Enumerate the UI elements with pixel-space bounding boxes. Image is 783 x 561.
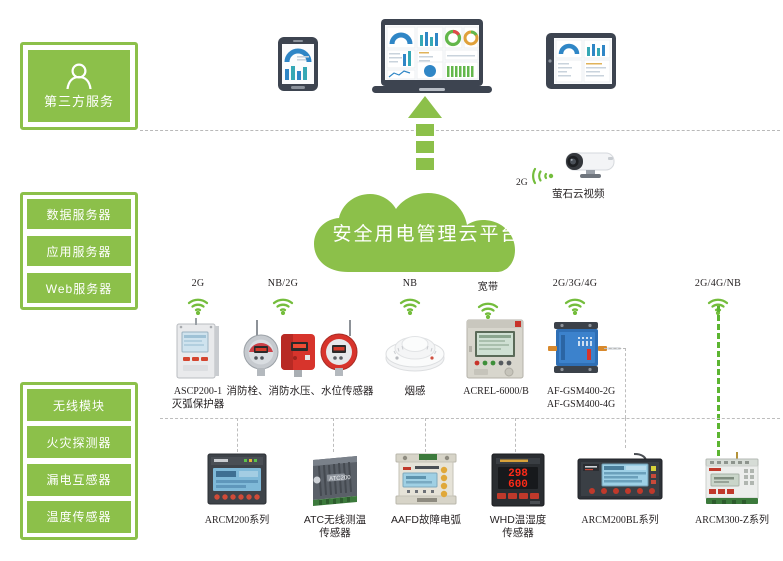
server-group-box: 数据服务器 应用服务器 Web服务器 [20, 192, 138, 310]
top-separator [140, 130, 780, 131]
smoke-detector-icon [384, 318, 446, 380]
wifi-icon [271, 293, 295, 315]
camera-wifi-icon [531, 165, 555, 187]
signal-label: 宽带 [453, 278, 523, 293]
device-caption: ARCM200系列 [197, 514, 277, 527]
bus-drop-line [333, 418, 334, 452]
device-caption: AAFD故障电弧 [385, 514, 467, 527]
device-caption: ARCM300-Z系列 [684, 514, 780, 527]
sidebar-item-leakage-transformer[interactable]: 漏电互感器 [27, 464, 131, 496]
device-bus-line [160, 418, 780, 419]
device-arcm200[interactable]: ARCM200系列 [197, 452, 277, 527]
gsm-gateway-icon [538, 318, 624, 380]
arc-fault-icon [393, 452, 459, 508]
laptop-icon [372, 18, 492, 98]
bus-drop-line [625, 418, 626, 448]
sidebar-item-app-server[interactable]: 应用服务器 [27, 236, 131, 266]
pressure-sensor-icon [235, 318, 365, 380]
camera-label: 萤石云视频 [552, 186, 605, 201]
third-party-label: 第三方服务 [44, 91, 114, 110]
third-party-service-box: 第三方服务 [20, 42, 138, 130]
device-aafd-arc[interactable]: AAFD故障电弧 [385, 452, 467, 527]
device-fire-sensors[interactable]: 消防栓、消防水压、水位传感器 [225, 318, 375, 398]
signal-label: 2G [163, 278, 233, 289]
wifi-icon [476, 297, 500, 319]
device-caption: 烟感 [374, 385, 456, 398]
signal-node-2g-3g-4g: 2G/3G/4G [540, 278, 610, 315]
wifi-icon [563, 293, 587, 315]
signal-label: NB/2G [248, 278, 318, 289]
device-caption: 传感器 [480, 527, 556, 540]
lcd-meter-icon [576, 452, 664, 508]
sidebar-item-web-server[interactable]: Web服务器 [27, 273, 131, 303]
third-party-inner: 第三方服务 [28, 50, 130, 122]
din-module-icon: ATC200 [305, 452, 365, 508]
control-cabinet-icon [465, 318, 527, 380]
cloud-platform: 安全用电管理云平台 [312, 191, 542, 273]
device-atc-temp[interactable]: ATC200 ATC无线测温 传感器 [295, 452, 375, 540]
signal-node-nb-2g: NB/2G [248, 278, 318, 315]
device-caption: 灭弧保护器 [148, 398, 248, 411]
arc-protector-icon [175, 318, 221, 380]
svg-text:600: 600 [508, 479, 528, 491]
device-caption: WHD温湿度 [480, 514, 556, 527]
panel-meter-icon [206, 452, 268, 508]
device-smoke-detector[interactable]: 烟感 [374, 318, 456, 398]
gateway-link-line [604, 348, 626, 349]
device-arcm200bl[interactable]: ARCM200BL系列 [570, 452, 670, 527]
bus-drop-line [425, 418, 426, 452]
din-meter-icon [700, 452, 764, 508]
device-whd[interactable]: 298 600 WHD温湿度 传感器 [480, 452, 556, 540]
device-caption: 传感器 [295, 527, 375, 540]
signal-label: NB [375, 278, 445, 289]
device-caption: ATC无线测温 [295, 514, 375, 527]
wifi-icon [186, 293, 210, 315]
device-arcm300z[interactable]: ARCM300-Z系列 [684, 452, 780, 527]
sidebar-item-data-server[interactable]: 数据服务器 [27, 199, 131, 229]
cloud-platform-label: 安全用电管理云平台 [312, 191, 542, 273]
architecture-diagram: 第三方服务 数据服务器 应用服务器 Web服务器 无线模块 火灾探测器 漏电互感… [0, 0, 783, 561]
camera-signal-label: 2G [516, 178, 528, 188]
tablet-icon [545, 32, 617, 90]
person-icon [62, 63, 96, 89]
signal-label: 2G/4G/NB [683, 278, 753, 289]
gateway-drop-line [625, 348, 626, 418]
device-caption: AF-GSM400-2G [528, 385, 634, 398]
arrow-up-icon [408, 96, 442, 172]
device-caption: AF-GSM400-4G [528, 398, 634, 411]
sidebar-item-temperature-sensor[interactable]: 温度传感器 [27, 501, 131, 533]
device-caption: 消防栓、消防水压、水位传感器 [225, 385, 375, 398]
signal-label: 2G/3G/4G [540, 278, 610, 289]
sidebar-item-fire-detector[interactable]: 火灾探测器 [27, 426, 131, 458]
wifi-icon [398, 293, 422, 315]
signal-node-nb: NB [375, 278, 445, 315]
bus-drop-line [237, 418, 238, 452]
signal-node-broadband: 宽带 [453, 278, 523, 319]
smartphone-icon [277, 36, 319, 92]
signal-node-2g: 2G [163, 278, 233, 315]
sidebar-item-wireless-module[interactable]: 无线模块 [27, 389, 131, 421]
device-caption: ARCM200BL系列 [570, 514, 670, 527]
digital-display-icon: 298 600 [490, 452, 546, 508]
module-group-box: 无线模块 火灾探测器 漏电互感器 温度传感器 [20, 382, 138, 540]
device-afgsm400[interactable]: AF-GSM400-2G AF-GSM400-4G [528, 318, 634, 411]
bus-drop-line [515, 418, 516, 452]
green-connector-line [717, 306, 720, 456]
cctv-camera-icon [556, 146, 620, 180]
